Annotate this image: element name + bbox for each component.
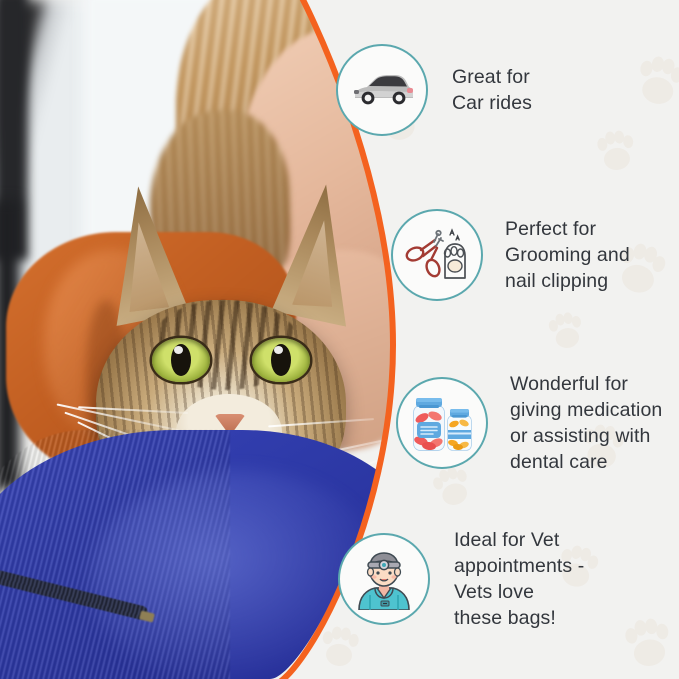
cat-eye-glint-right: [274, 346, 283, 354]
infographic-stage: Great for Car rides: [0, 0, 679, 679]
feature-row-vet: Ideal for Vet appointments - Vets love t…: [338, 527, 584, 631]
feature-icon-circle-vet: [338, 533, 430, 625]
feature-row-medication: Wonderful for giving medication or assis…: [396, 371, 662, 475]
medicine-bottles-icon: [408, 394, 476, 452]
feature-label-car-rides: Great for Car rides: [452, 64, 532, 116]
car-icon: [349, 70, 415, 110]
feature-icon-circle-car: [336, 44, 428, 136]
feature-row-grooming: Perfect for Grooming and nail clipping: [391, 209, 630, 301]
veterinarian-icon: [353, 548, 415, 610]
cat-eye-glint-left: [174, 346, 183, 354]
feature-row-car-rides: Great for Car rides: [336, 44, 532, 136]
feature-label-medication: Wonderful for giving medication or assis…: [510, 371, 662, 475]
feature-label-grooming: Perfect for Grooming and nail clipping: [505, 216, 630, 294]
feature-icon-circle-medication: [396, 377, 488, 469]
feature-icon-circle-grooming: [391, 209, 483, 301]
nail-clippers-paw-icon: [405, 226, 469, 284]
feature-label-vet: Ideal for Vet appointments - Vets love t…: [454, 527, 584, 631]
